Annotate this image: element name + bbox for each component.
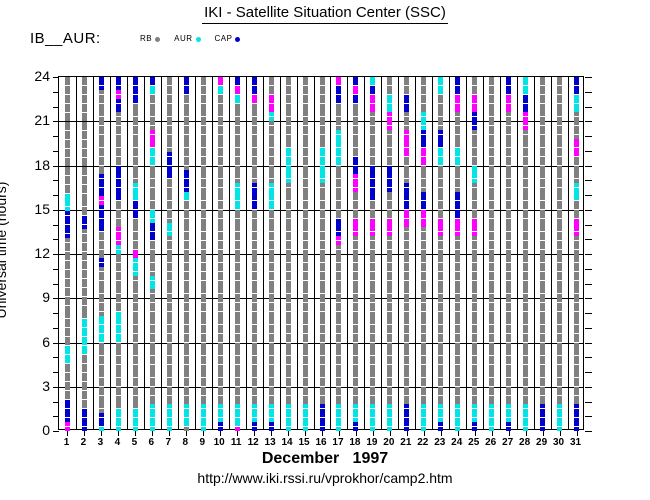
- data-point: [150, 329, 155, 333]
- data-point: [82, 194, 87, 198]
- data-point: [472, 139, 477, 143]
- data-point: [252, 77, 257, 81]
- x-axis-tick: [101, 431, 102, 436]
- data-point: [65, 81, 70, 85]
- data-point: [116, 382, 121, 386]
- data-point: [404, 254, 409, 258]
- data-point: [235, 289, 240, 293]
- data-point: [421, 347, 426, 351]
- data-point: [489, 378, 494, 382]
- x-axis-tick: [390, 431, 391, 436]
- data-point: [489, 316, 494, 320]
- data-point: [353, 307, 358, 311]
- data-point: [116, 126, 121, 130]
- data-point: [167, 347, 172, 351]
- data-point: [506, 334, 511, 338]
- data-point: [133, 294, 138, 298]
- data-point: [421, 351, 426, 355]
- data-point: [133, 307, 138, 311]
- data-point: [370, 250, 375, 254]
- data-point: [82, 359, 87, 363]
- data-point: [336, 139, 341, 143]
- data-point: [472, 179, 477, 183]
- data-point: [455, 157, 460, 161]
- data-point: [455, 192, 460, 196]
- data-point: [574, 148, 579, 152]
- data-point: [438, 258, 443, 262]
- data-point: [82, 243, 87, 247]
- data-point: [167, 404, 172, 408]
- legend-item-aur[interactable]: AUR: [174, 34, 200, 43]
- data-point: [99, 174, 104, 178]
- data-point: [269, 241, 274, 245]
- data-point: [184, 347, 189, 351]
- data-point: [303, 121, 308, 125]
- data-point: [320, 391, 325, 395]
- data-point: [286, 152, 291, 156]
- data-point: [286, 223, 291, 227]
- data-point: [99, 112, 104, 116]
- data-point: [574, 201, 579, 205]
- data-point: [557, 307, 562, 311]
- data-point: [184, 174, 189, 178]
- data-point: [150, 365, 155, 369]
- data-point: [320, 294, 325, 298]
- data-point: [218, 396, 223, 400]
- data-point: [455, 227, 460, 231]
- data-point: [116, 152, 121, 156]
- data-point: [540, 214, 545, 218]
- data-point: [201, 152, 206, 156]
- data-point: [150, 312, 155, 316]
- data-point: [133, 351, 138, 355]
- y-axis-tick-left: [53, 166, 59, 167]
- data-point: [438, 418, 443, 422]
- data-point: [184, 382, 189, 386]
- data-point: [286, 409, 291, 413]
- data-point: [235, 121, 240, 125]
- data-point: [133, 174, 138, 178]
- data-point: [421, 143, 426, 147]
- data-point: [523, 281, 528, 285]
- data-point: [286, 276, 291, 280]
- data-point: [167, 232, 172, 236]
- data-point: [252, 382, 257, 386]
- data-point: [404, 117, 409, 121]
- data-point: [472, 227, 477, 231]
- data-point: [286, 205, 291, 209]
- data-point: [353, 316, 358, 320]
- data-point: [320, 334, 325, 338]
- data-point: [523, 117, 528, 121]
- data-point: [303, 312, 308, 316]
- data-point: [252, 427, 257, 431]
- y-axis-tick-right: [585, 328, 592, 329]
- data-point: [404, 373, 409, 377]
- data-point: [404, 236, 409, 240]
- data-point: [370, 338, 375, 342]
- x-axis-tick: [475, 431, 476, 436]
- data-point: [320, 104, 325, 108]
- data-point: [184, 121, 189, 125]
- data-point: [133, 196, 138, 200]
- data-point: [252, 404, 257, 408]
- data-point: [438, 307, 443, 311]
- data-point: [387, 196, 392, 200]
- data-point: [218, 143, 223, 147]
- data-point: [133, 418, 138, 422]
- data-point: [184, 281, 189, 285]
- data-point: [489, 294, 494, 298]
- data-point: [235, 188, 240, 192]
- data-point: [506, 267, 511, 271]
- data-point: [320, 214, 325, 218]
- data-point: [82, 404, 87, 408]
- data-point: [489, 396, 494, 400]
- data-point: [269, 183, 274, 187]
- data-point: [65, 234, 70, 238]
- data-point: [472, 245, 477, 249]
- data-point: [336, 351, 341, 355]
- data-point: [65, 323, 70, 327]
- data-point: [489, 263, 494, 267]
- data-point: [421, 396, 426, 400]
- data-point: [252, 307, 257, 311]
- data-point: [370, 347, 375, 351]
- data-point: [167, 245, 172, 249]
- data-point: [286, 232, 291, 236]
- data-point: [303, 373, 308, 377]
- data-point: [65, 395, 70, 399]
- data-point: [387, 404, 392, 408]
- data-point: [286, 179, 291, 183]
- data-point: [455, 130, 460, 134]
- data-point: [404, 81, 409, 85]
- data-point: [489, 289, 494, 293]
- data-point: [320, 157, 325, 161]
- data-point: [150, 422, 155, 426]
- data-point: [353, 404, 358, 408]
- data-point: [421, 263, 426, 267]
- data-point: [65, 301, 70, 305]
- data-point: [150, 126, 155, 130]
- data-point: [320, 174, 325, 178]
- data-point: [353, 121, 358, 125]
- data-point: [574, 276, 579, 280]
- data-point: [252, 254, 257, 258]
- data-point: [336, 413, 341, 417]
- data-point: [574, 343, 579, 347]
- data-point: [252, 422, 257, 426]
- data-point: [303, 320, 308, 324]
- data-point: [472, 148, 477, 152]
- data-point: [506, 312, 511, 316]
- data-point: [320, 378, 325, 382]
- data-point: [82, 373, 87, 377]
- data-point: [320, 338, 325, 342]
- data-point: [99, 157, 104, 161]
- data-point: [286, 316, 291, 320]
- data-point: [252, 267, 257, 271]
- data-point: [201, 329, 206, 333]
- y-axis-tick-right: [585, 254, 592, 255]
- data-point: [65, 382, 70, 386]
- data-point: [286, 373, 291, 377]
- data-point: [540, 303, 545, 307]
- dot-marker-icon-rb: [155, 37, 160, 42]
- data-point: [235, 285, 240, 289]
- data-point: [286, 329, 291, 333]
- data-point: [320, 413, 325, 417]
- data-point: [150, 174, 155, 178]
- data-point: [167, 250, 172, 254]
- data-point: [184, 179, 189, 183]
- data-point: [557, 99, 562, 103]
- data-point: [167, 214, 172, 218]
- data-point: [370, 391, 375, 395]
- data-point: [353, 250, 358, 254]
- data-point: [574, 90, 579, 94]
- data-point: [269, 391, 274, 395]
- data-point: [336, 320, 341, 324]
- data-point: [116, 267, 121, 271]
- data-point: [252, 130, 257, 134]
- data-point: [353, 369, 358, 373]
- data-point: [167, 373, 172, 377]
- data-point: [303, 152, 308, 156]
- data-point: [150, 418, 155, 422]
- data-point: [438, 325, 443, 329]
- plot-frame[interactable]: [58, 76, 584, 430]
- data-point: [540, 188, 545, 192]
- data-point: [184, 112, 189, 116]
- data-point: [455, 117, 460, 121]
- data-point: [370, 404, 375, 408]
- data-point: [99, 152, 104, 156]
- data-point: [201, 365, 206, 369]
- data-point: [574, 121, 579, 125]
- data-point: [472, 258, 477, 262]
- data-point: [353, 90, 358, 94]
- data-point: [472, 157, 477, 161]
- data-point: [286, 245, 291, 249]
- data-point: [489, 81, 494, 85]
- data-point: [269, 174, 274, 178]
- data-point: [353, 343, 358, 347]
- data-point: [303, 99, 308, 103]
- data-point: [421, 316, 426, 320]
- x-axis-tick: [203, 431, 204, 436]
- data-point: [489, 258, 494, 262]
- data-point: [574, 281, 579, 285]
- data-point: [150, 139, 155, 143]
- data-point: [455, 201, 460, 205]
- data-point: [252, 188, 257, 192]
- data-point: [404, 351, 409, 355]
- data-point: [252, 166, 257, 170]
- x-axis-tick: [458, 431, 459, 436]
- data-point: [218, 183, 223, 187]
- data-point: [455, 210, 460, 214]
- data-point: [82, 395, 87, 399]
- data-point: [574, 307, 579, 311]
- data-point: [557, 77, 562, 81]
- data-point: [133, 139, 138, 143]
- data-point: [489, 307, 494, 311]
- data-point: [201, 267, 206, 271]
- data-point: [489, 130, 494, 134]
- data-point: [167, 126, 172, 130]
- data-point: [387, 373, 392, 377]
- data-point: [133, 81, 138, 85]
- data-point: [303, 148, 308, 152]
- data-point: [184, 329, 189, 333]
- data-point: [99, 409, 104, 413]
- data-point: [557, 139, 562, 143]
- data-point: [421, 95, 426, 99]
- data-point: [82, 355, 87, 359]
- data-point: [540, 316, 545, 320]
- data-point: [218, 325, 223, 329]
- data-point: [65, 328, 70, 332]
- data-point: [218, 210, 223, 214]
- data-point: [353, 329, 358, 333]
- data-point: [320, 152, 325, 156]
- data-point: [455, 325, 460, 329]
- data-point: [370, 382, 375, 386]
- data-point: [167, 241, 172, 245]
- data-point: [116, 343, 121, 347]
- data-point: [303, 387, 308, 391]
- data-point: [269, 312, 274, 316]
- data-point: [387, 307, 392, 311]
- data-point: [404, 316, 409, 320]
- data-point: [540, 347, 545, 351]
- data-point: [472, 99, 477, 103]
- data-point: [353, 130, 358, 134]
- data-point: [387, 422, 392, 426]
- y-tick-label: 9: [20, 290, 50, 304]
- data-point: [404, 139, 409, 143]
- data-point: [269, 351, 274, 355]
- y-axis-tick-right: [585, 387, 592, 388]
- data-point: [489, 179, 494, 183]
- data-point: [65, 265, 70, 269]
- data-point: [252, 298, 257, 302]
- y-axis-tick-right: [585, 151, 592, 152]
- data-point: [201, 396, 206, 400]
- data-point: [506, 343, 511, 347]
- data-point: [201, 369, 206, 373]
- data-point: [303, 183, 308, 187]
- data-point: [252, 179, 257, 183]
- data-point: [506, 214, 511, 218]
- data-point: [557, 422, 562, 426]
- data-point: [82, 265, 87, 269]
- data-point: [336, 285, 341, 289]
- data-point: [150, 369, 155, 373]
- data-point: [320, 250, 325, 254]
- data-point: [82, 171, 87, 175]
- data-point: [99, 192, 104, 196]
- data-point: [455, 285, 460, 289]
- data-point: [506, 166, 511, 170]
- data-point: [133, 104, 138, 108]
- data-point: [421, 294, 426, 298]
- data-point: [320, 143, 325, 147]
- data-point: [269, 112, 274, 116]
- data-point: [523, 183, 528, 187]
- data-point: [506, 179, 511, 183]
- data-point: [455, 174, 460, 178]
- data-point: [421, 373, 426, 377]
- data-point: [218, 121, 223, 125]
- data-point: [133, 108, 138, 112]
- data-point: [540, 205, 545, 209]
- data-point: [133, 135, 138, 139]
- data-point: [286, 418, 291, 422]
- legend-item-cap[interactable]: CAP: [215, 34, 241, 43]
- vertical-gridline: [398, 77, 399, 429]
- data-point: [404, 90, 409, 94]
- data-point: [574, 81, 579, 85]
- data-point: [523, 161, 528, 165]
- data-point: [421, 276, 426, 280]
- data-point: [235, 108, 240, 112]
- data-point: [387, 179, 392, 183]
- data-point: [523, 232, 528, 236]
- data-point: [557, 263, 562, 267]
- legend-item-rb[interactable]: RB: [140, 34, 160, 43]
- data-point: [370, 427, 375, 431]
- data-point: [99, 250, 104, 254]
- data-point: [336, 99, 341, 103]
- data-point: [472, 250, 477, 254]
- data-point: [404, 289, 409, 293]
- data-point: [438, 338, 443, 342]
- data-point: [404, 245, 409, 249]
- data-point: [523, 227, 528, 231]
- data-point: [116, 351, 121, 355]
- data-point: [506, 294, 511, 298]
- data-point: [336, 179, 341, 183]
- data-point: [353, 227, 358, 231]
- data-point: [201, 298, 206, 302]
- data-point: [472, 396, 477, 400]
- data-point: [404, 360, 409, 364]
- data-point: [269, 307, 274, 311]
- data-point: [540, 307, 545, 311]
- data-point: [82, 288, 87, 292]
- data-point: [184, 298, 189, 302]
- data-point: [421, 196, 426, 200]
- data-point: [201, 316, 206, 320]
- data-point: [116, 378, 121, 382]
- data-point: [455, 245, 460, 249]
- data-point: [65, 99, 70, 103]
- data-point: [421, 117, 426, 121]
- data-point: [489, 201, 494, 205]
- data-point: [353, 272, 358, 276]
- data-point: [184, 205, 189, 209]
- data-point: [438, 320, 443, 324]
- data-point: [540, 196, 545, 200]
- data-point: [506, 378, 511, 382]
- data-point: [116, 81, 121, 85]
- data-point: [438, 276, 443, 280]
- data-point: [116, 95, 121, 99]
- data-point: [167, 307, 172, 311]
